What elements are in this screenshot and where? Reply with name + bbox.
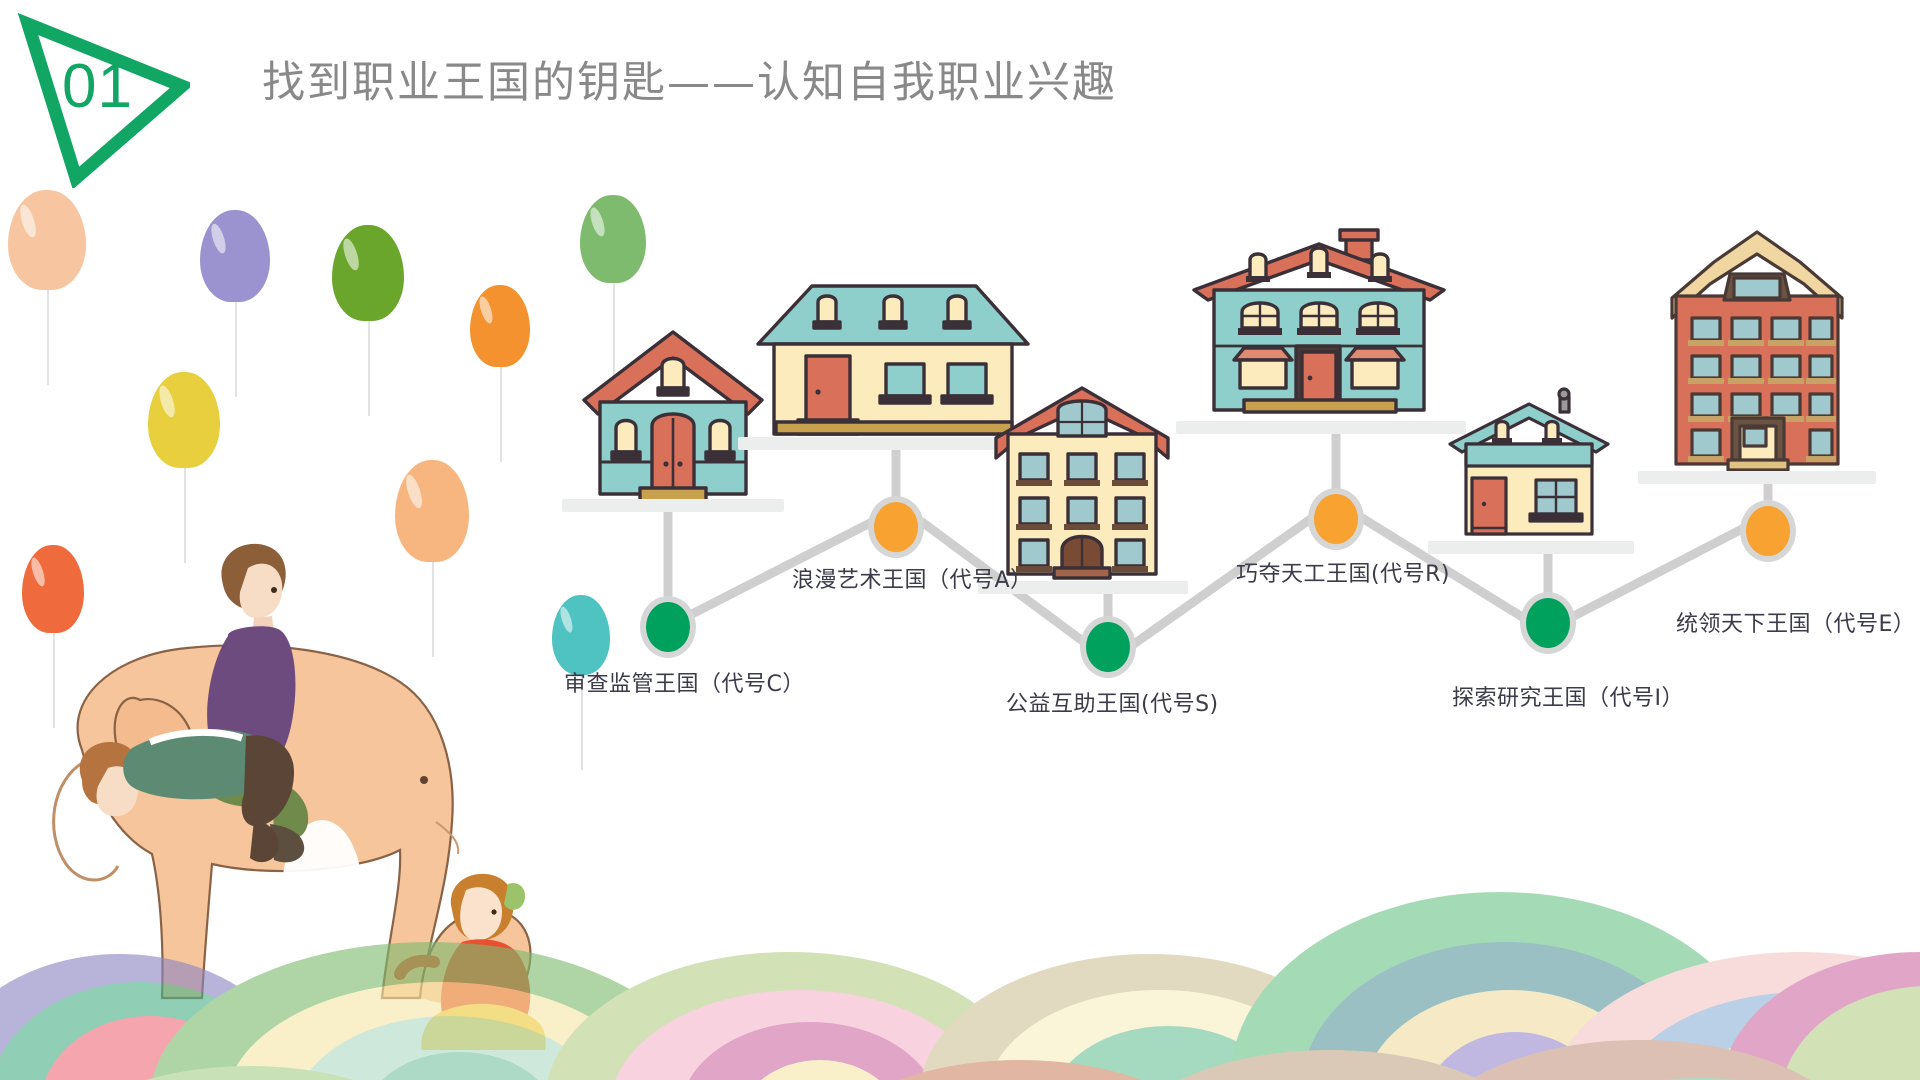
page-title: 找到职业王国的钥匙——认知自我职业兴趣 [262, 48, 1117, 110]
slide-root: 01 找到职业王国的钥匙——认知自我职业兴趣 [0, 0, 1920, 1080]
cottage-teal-icon [578, 322, 768, 512]
house-ground [1638, 471, 1876, 484]
section-number-badge: 01 [14, 8, 190, 188]
balloon [200, 210, 270, 302]
node-dot-s[interactable] [1080, 616, 1136, 678]
house-kingdom-r [1188, 224, 1450, 434]
node-dot-e[interactable] [1740, 500, 1796, 562]
house-kingdom-e [1664, 222, 1850, 484]
node-dot-c[interactable] [640, 596, 696, 658]
house-ground [1428, 541, 1634, 554]
house-kingdom-c [578, 322, 768, 512]
node-dot-a[interactable] [868, 496, 924, 558]
node-label-c: 审查监管王国（代号C） [564, 666, 805, 698]
bottom-decorative-arcs [0, 850, 1920, 1080]
two-story-house-icon [1188, 224, 1450, 434]
balloon [470, 285, 530, 367]
node-label-a: 浪漫艺术王国（代号A） [792, 562, 1033, 594]
node-label-i: 探索研究王国（代号I） [1452, 680, 1684, 712]
balloon [580, 195, 646, 283]
house-ground [562, 499, 784, 512]
node-dot-r[interactable] [1308, 488, 1364, 550]
balloon [332, 225, 404, 321]
node-dot-i[interactable] [1520, 592, 1576, 654]
tall-block-icon [1664, 222, 1850, 484]
node-label-s: 公益互助王国(代号S) [1006, 686, 1219, 718]
house-ground [1176, 421, 1466, 434]
node-label-r: 巧夺天工王国(代号R) [1236, 556, 1450, 588]
node-label-e: 统领天下王国（代号E） [1676, 606, 1915, 638]
balloon [8, 190, 86, 290]
house-kingdom-i [1442, 382, 1616, 554]
section-number: 01 [62, 56, 133, 118]
small-house-icon [1442, 382, 1616, 554]
career-kingdom-diagram: 审查监管王国（代号C） 浪漫艺术王国（代号A） 公益互助王国(代号S) 巧夺天工… [640, 230, 1920, 910]
